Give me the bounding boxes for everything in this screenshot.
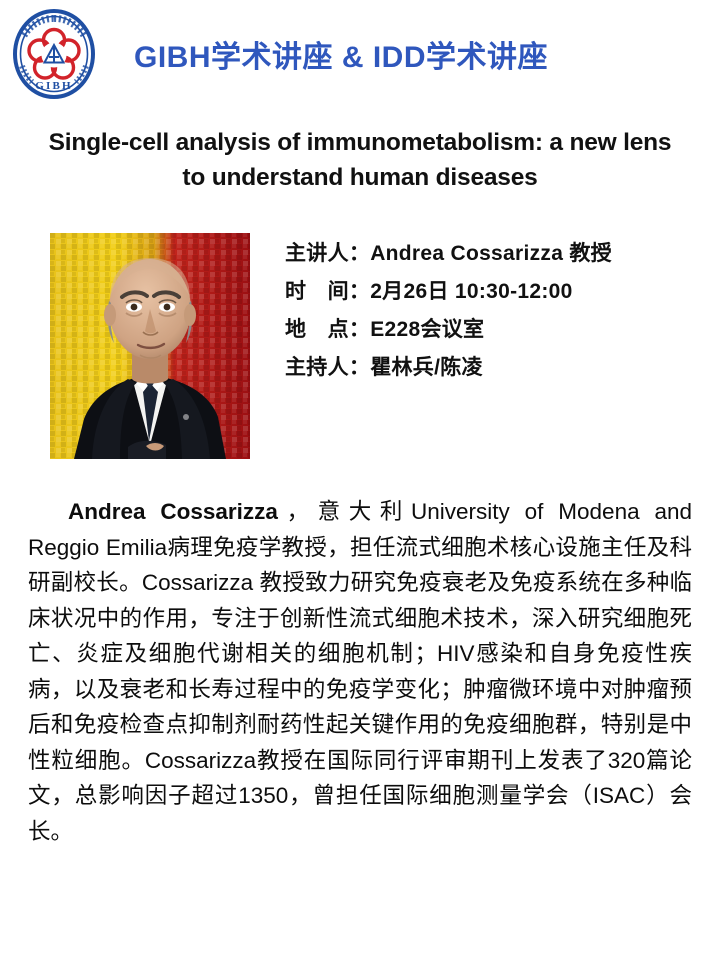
detail-row-location: 地 点：E228会议室 bbox=[285, 319, 705, 340]
poster-header: GIBH GIBH学术讲座 & IDD学术讲座 bbox=[0, 0, 720, 108]
gibh-institute-seal-logo-icon: GIBH bbox=[10, 8, 98, 100]
detail-label-time: 时 间： bbox=[285, 280, 370, 303]
bio-speaker-name: Andrea Cossarizza bbox=[68, 499, 278, 524]
detail-value-time: 2月26日 10:30-12:00 bbox=[370, 280, 572, 303]
talk-title-line-1: Single-cell analysis of immunometabolism… bbox=[49, 129, 672, 156]
detail-value-host: 瞿林兵/陈凌 bbox=[370, 356, 483, 379]
detail-label-speaker: 主讲人： bbox=[285, 242, 370, 265]
seminar-details: 主讲人：Andrea Cossarizza 教授 时 间：2月26日 10:30… bbox=[285, 243, 705, 378]
detail-value-location: E228会议室 bbox=[370, 318, 484, 341]
detail-label-host: 主持人： bbox=[285, 356, 370, 379]
detail-row-time: 时 间：2月26日 10:30-12:00 bbox=[285, 281, 705, 302]
detail-value-speaker: Andrea Cossarizza 教授 bbox=[370, 242, 612, 265]
page-title: GIBH学术讲座 & IDD学术讲座 bbox=[134, 32, 548, 76]
detail-row-speaker: 主讲人：Andrea Cossarizza 教授 bbox=[285, 243, 705, 264]
talk-title: Single-cell analysis of immunometabolism… bbox=[24, 126, 696, 196]
speaker-biography: Andrea Cossarizza，意大利University of Moden… bbox=[28, 494, 692, 849]
detail-label-location: 地 点： bbox=[285, 318, 370, 341]
logo-wordmark: GIBH bbox=[35, 80, 73, 92]
bio-text: ，意大利University of Modena and Reggio Emil… bbox=[28, 499, 692, 844]
speaker-info-row: 主讲人：Andrea Cossarizza 教授 时 间：2月26日 10:30… bbox=[0, 233, 720, 461]
speaker-portrait-photo bbox=[50, 233, 250, 459]
detail-row-host: 主持人：瞿林兵/陈凌 bbox=[285, 357, 705, 378]
talk-title-line-2: to understand human diseases bbox=[24, 161, 696, 196]
